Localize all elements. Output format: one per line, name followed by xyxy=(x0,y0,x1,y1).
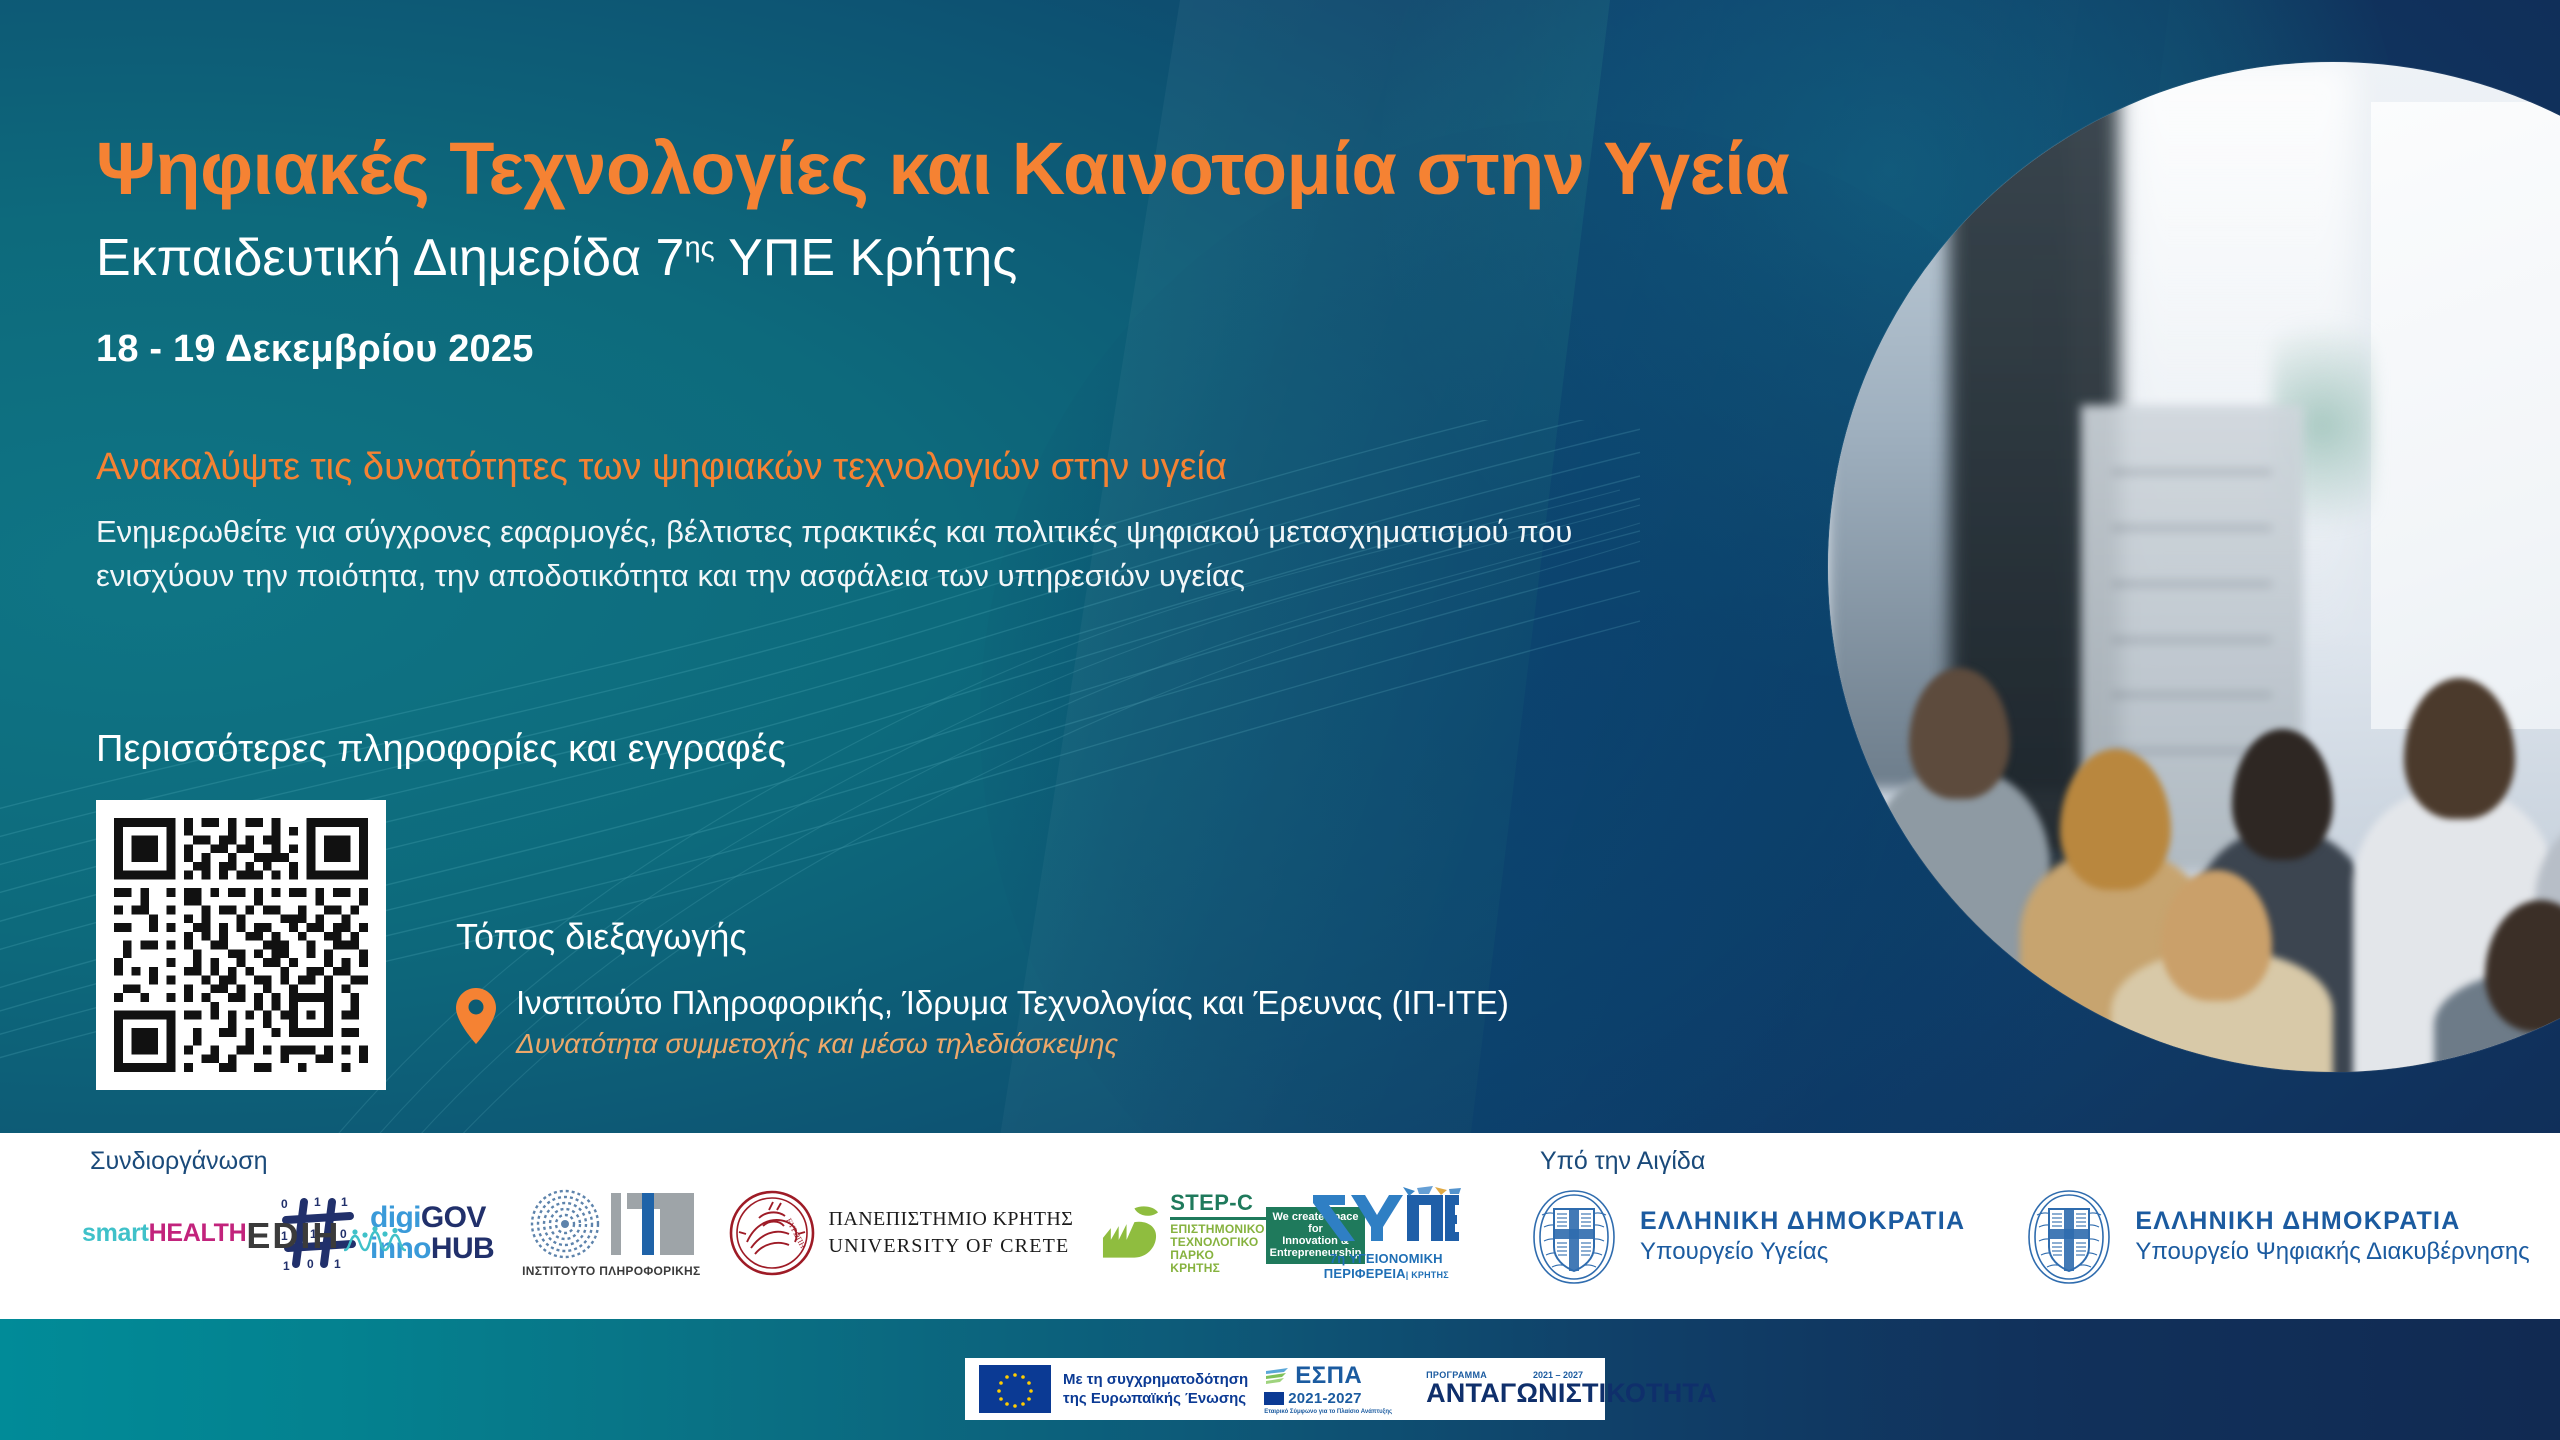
step-c-sub1: ΕΠΙΣΤΗΜΟΝΙΚΟ xyxy=(1170,1223,1265,1236)
ite-wordmark xyxy=(611,1193,694,1255)
svg-text:1: 1 xyxy=(341,1195,348,1209)
espa-name: ΕΣΠΑ xyxy=(1295,1364,1362,1388)
innohub-hub-text: HUB xyxy=(431,1232,494,1265)
uoc-name-el: ΠΑΝΕΠΙΣΤΗΜΙΟ ΚΡΗΤΗΣ xyxy=(829,1206,1074,1233)
programme-years: 2021 – 2027 xyxy=(1533,1370,1583,1380)
smarthealth-smart-text: smart xyxy=(82,1219,149,1247)
ype-line-2: ΠΕΡΙΦΕΡΕΙΑ xyxy=(1324,1266,1406,1281)
smarthealth-health-text: HEALTH xyxy=(149,1219,247,1247)
coorganisers-label: Συνδιοργάνωση xyxy=(90,1147,268,1176)
step-c-sub2: ΤΕΧΝΟΛΟΓΙΚΟ xyxy=(1170,1236,1265,1249)
event-description: Ενημερωθείτε για σύγχρονες εφαρμογές, βέ… xyxy=(96,510,1596,598)
ype-line-1: 7η ΥΓΕΙΟΝΟΜΙΚΗ xyxy=(1330,1251,1443,1266)
auspices-logos: ΕΛΛΗΝΙΚΗ ΔΗΜΟΚΡΑΤΙΑ Υπουργείο Υγείας xyxy=(1528,1185,2530,1289)
location-pin-icon xyxy=(456,988,496,1044)
digigov-gov-text: GOV xyxy=(421,1201,486,1234)
ministry-health-republic: ΕΛΛΗΝΙΚΗ ΔΗΜΟΚΡΑΤΙΑ xyxy=(1640,1206,1965,1236)
forth-spiral-icon xyxy=(529,1188,601,1260)
ype-mark-icon xyxy=(1311,1185,1461,1249)
venue-label: Τόπος διεξαγωγής xyxy=(456,916,747,958)
registration-qr-code[interactable] xyxy=(96,800,386,1090)
pulse-wave-icon xyxy=(344,1226,406,1254)
ministry-digital-name: Υπουργείο Ψηφιακής Διακυβέρνησης xyxy=(2135,1236,2529,1267)
uoc-seal-icon: ΕΥΡΩΠΗ xyxy=(729,1190,815,1276)
eu-cofunding-line-1: Με τη συγχρηματοδότηση xyxy=(1063,1370,1248,1389)
greek-coat-of-arms-icon xyxy=(1528,1185,1620,1289)
programme-block: ΠΡΟΓΡΑΜΜΑ ΑΝΤΑΓΩΝΙΣΤΙΚΟΤΗΤΑ 2021 – 2027 xyxy=(1426,1370,1717,1408)
svg-text:1: 1 xyxy=(283,1259,290,1272)
auspices-label: Υπό την Αιγίδα xyxy=(1540,1147,1705,1176)
logo-7i-ype-kritis: 7η ΥΓΕΙΟΝΟΜΙΚΗ ΠΕΡΙΦΕΡΕΙΑ| ΚΡΗΤΗΣ xyxy=(1311,1185,1461,1281)
event-subtitle: Εκπαιδευτική Διημερίδα 7ης ΥΠΕ Κρήτης xyxy=(96,230,1017,287)
subtitle-text-after: ΥΠΕ Κρήτης xyxy=(715,229,1018,287)
edih-text: EDIH xyxy=(246,1218,340,1254)
logo-forth-ite: ΙΝΣΤΙΤΟΥΤΟ ΠΛΗΡΟΦΟΡΙΚΗΣ xyxy=(522,1188,700,1278)
programme-name: ΑΝΤΑΓΩΝΙΣΤΙΚΟΤΗΤΑ xyxy=(1426,1380,1717,1408)
page-title: Ψηφιακές Τεχνολογίες και Καινοτομία στην… xyxy=(96,130,2056,208)
venue-name: Ινστιτούτο Πληροφορικής, Ίδρυμα Τεχνολογ… xyxy=(516,984,1509,1022)
event-dates: 18 - 19 Δεκεμβρίου 2025 xyxy=(96,328,534,371)
uoc-name-en: UNIVERSITY OF CRETE xyxy=(829,1233,1074,1260)
greek-coat-of-arms-icon xyxy=(2023,1185,2115,1289)
espa-wave-icon xyxy=(1264,1366,1290,1386)
venue-block: Ινστιτούτο Πληροφορικής, Ίδρυμα Τεχνολογ… xyxy=(456,984,1509,1060)
svg-text:1: 1 xyxy=(314,1195,321,1209)
svg-text:0: 0 xyxy=(307,1257,314,1271)
svg-text:0: 0 xyxy=(281,1197,288,1211)
conference-audience-photo xyxy=(1828,62,2560,1072)
espa-years: 2021-2027 xyxy=(1288,1390,1362,1407)
subtitle-text-before: Εκπαιδευτική Διημερίδα 7 xyxy=(96,229,684,287)
more-info-label: Περισσότερες πληροφορίες και εγγραφές xyxy=(96,728,786,771)
step-c-name: STEP-C xyxy=(1170,1191,1265,1215)
svg-text:1: 1 xyxy=(334,1257,341,1271)
logo-university-of-crete: ΕΥΡΩΠΗ ΠΑΝΕΠΙΣΤΗΜΙΟ ΚΡΗΤΗΣ UNIVERSITY OF… xyxy=(729,1190,1074,1276)
eu-cofunding-line-2: της Ευρωπαϊκής Ένωσης xyxy=(1063,1389,1248,1408)
logo-ministry-of-health: ΕΛΛΗΝΙΚΗ ΔΗΜΟΚΡΑΤΙΑ Υπουργείο Υγείας xyxy=(1528,1185,1965,1289)
logo-smarthealth-edih: smartHEALTH EDIH xyxy=(82,1212,252,1254)
partners-footer: Συνδιοργάνωση Υπό την Αιγίδα smartHEALTH… xyxy=(0,1133,2560,1319)
espa-funding-banner: Με τη συγχρηματοδότηση της Ευρωπαϊκής Έν… xyxy=(965,1358,1605,1420)
coorganiser-logos: smartHEALTH EDIH xyxy=(82,1185,1461,1281)
step-c-leaf-icon xyxy=(1101,1204,1162,1262)
logo-ministry-of-digital-governance: ΕΛΛΗΝΙΚΗ ΔΗΜΟΚΡΑΤΙΑ Υπουργείο Ψηφιακής Δ… xyxy=(2023,1185,2529,1289)
ministry-health-name: Υπουργείο Υγείας xyxy=(1640,1236,1965,1267)
venue-note: Δυνατότητα συμμετοχής και μέσω τηλεδιάσκ… xyxy=(516,1028,1509,1060)
event-poster: Ψηφιακές Τεχνολογίες και Καινοτομία στην… xyxy=(0,0,2560,1440)
ype-line-2-small: | ΚΡΗΤΗΣ xyxy=(1406,1270,1449,1280)
step-c-sub3: ΠΑΡΚΟ ΚΡΗΤΗΣ xyxy=(1170,1249,1265,1275)
ministry-digital-republic: ΕΛΛΗΝΙΚΗ ΔΗΜΟΚΡΑΤΙΑ xyxy=(2135,1206,2529,1236)
ite-caption: ΙΝΣΤΙΤΟΥΤΟ ΠΛΗΡΟΦΟΡΙΚΗΣ xyxy=(522,1264,700,1278)
espa-footnote: Εταιρικό Σύμφωνο για το Πλαίσιο Ανάπτυξη… xyxy=(1264,1409,1392,1415)
espa-logo: ΕΣΠΑ 2021-2027 Εταιρικό Σύμφωνο για το Π… xyxy=(1264,1364,1392,1415)
event-lead: Ανακαλύψτε τις δυνατότητες των ψηφιακών … xyxy=(96,444,1227,492)
logo-step-c: STEP-C ΕΠΙΣΤΗΜΟΝΙΚΟ ΤΕΧΝΟΛΟΓΙΚΟ ΠΑΡΚΟ ΚΡ… xyxy=(1101,1191,1283,1275)
subtitle-superscript: ης xyxy=(684,232,714,264)
eu-flag-icon xyxy=(979,1365,1051,1413)
